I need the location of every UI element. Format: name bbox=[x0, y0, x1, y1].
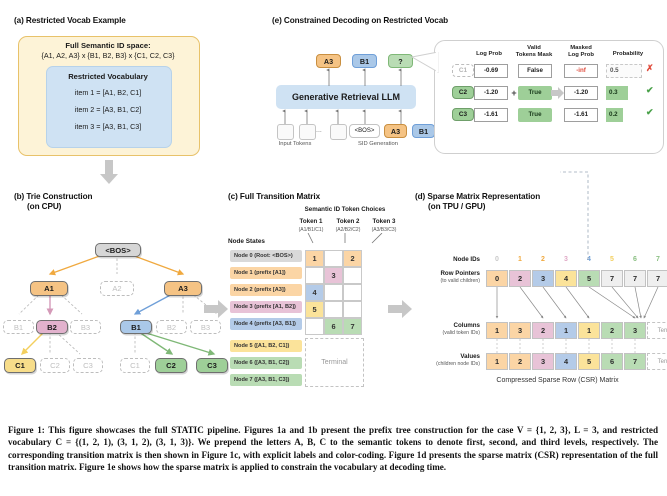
section-e-title: (e) Constrained Decoding on Restricted V… bbox=[272, 16, 448, 26]
section-c-title: (c) Full Transition Matrix bbox=[228, 192, 320, 202]
csr-column-5: 2 bbox=[601, 322, 623, 339]
sid-token-b1: B1 bbox=[412, 124, 435, 138]
node-state-7: Node 7 ([A3, B1, C3]) bbox=[230, 374, 302, 386]
trie-node-a3-b2: B2 bbox=[156, 320, 187, 334]
trie-node-a3-b1: B1 bbox=[120, 320, 152, 334]
full-semantic-id-value: {A1, A2, A3} x {B1, B2, B3} x {C1, C2, C… bbox=[14, 51, 202, 60]
row-pointer-0: 0 bbox=[486, 270, 508, 287]
matrix-cell-r1c1: 3 bbox=[324, 267, 343, 284]
csr-value-3: 4 bbox=[555, 353, 577, 370]
log-prob-c1: -0.69 bbox=[474, 64, 508, 78]
matrix-cell-r3c1 bbox=[324, 301, 343, 318]
probability-header: Probability bbox=[603, 51, 653, 58]
cross-icon-c1: ✗ bbox=[646, 63, 654, 74]
caption-text: This figure showcases the full STATIC pi… bbox=[8, 425, 658, 472]
trie-node-a3-b1-c3: C3 bbox=[196, 358, 228, 373]
matrix-cell-r4c0 bbox=[305, 318, 324, 335]
matrix-cell-r2c1 bbox=[324, 284, 343, 301]
valid-mask-header: Valid Tokens Mask bbox=[510, 45, 558, 59]
matrix-cell-r2c2 bbox=[343, 284, 362, 301]
matrix-terminal-block: Terminal bbox=[305, 338, 364, 387]
csr-column-6: 3 bbox=[624, 322, 646, 339]
input-arrows bbox=[276, 109, 416, 124]
columns-label: Columns(valid token IDs) bbox=[408, 322, 480, 338]
log-prob-header: Log Prob bbox=[468, 51, 510, 58]
arrow-mask-to-masked bbox=[551, 87, 564, 99]
node-ids-label: Node IDs bbox=[428, 256, 480, 263]
csr-column-4: 1 bbox=[578, 322, 600, 339]
node-state-3: Node 3 (prefix [A1, B2]) bbox=[230, 301, 302, 313]
matrix-cell-r0c0: 1 bbox=[305, 250, 324, 267]
trie-node-a2: A2 bbox=[100, 281, 134, 296]
trie-node-a1: A1 bbox=[30, 281, 68, 296]
csr-columns-terminal: Terminal bbox=[647, 322, 667, 339]
callout-tail bbox=[408, 52, 440, 78]
mask-c3: True bbox=[518, 108, 552, 122]
bos-token: <BOS> bbox=[349, 124, 380, 138]
generative-retrieval-llm: Generative Retrieval LLM bbox=[276, 85, 416, 109]
masked-log-prob-header: Masked Log Prob bbox=[558, 45, 604, 59]
csr-values-terminal: Terminal bbox=[647, 353, 667, 370]
row-pointer-7: 7 bbox=[647, 270, 667, 287]
figure-caption: Figure 1: This figure showcases the full… bbox=[8, 424, 658, 474]
matrix-cell-r4c2: 7 bbox=[343, 318, 362, 335]
csr-caption: Compressed Sparse Row (CSR) Matrix bbox=[455, 377, 660, 384]
node-state-2: Node 2 (prefix [A3]) bbox=[230, 284, 302, 296]
token-choices-header: Semantic ID Token Choices bbox=[290, 206, 400, 213]
input-token-box-3 bbox=[330, 124, 347, 140]
matrix-cell-r3c2 bbox=[343, 301, 362, 318]
values-label: Values(children node IDs) bbox=[400, 353, 480, 369]
restricted-vocabulary-title: Restricted Vocabulary bbox=[46, 72, 170, 81]
node-id-5: 5 bbox=[601, 256, 623, 263]
vocab-item-2: item 2 = [A3, B1, C2] bbox=[46, 105, 170, 114]
csr-value-4: 5 bbox=[578, 353, 600, 370]
sid-token-a3: A3 bbox=[384, 124, 407, 138]
matrix-cell-r1c0 bbox=[305, 267, 324, 284]
trie-node-bos: <BOS> bbox=[95, 243, 141, 257]
row-pointer-5: 7 bbox=[601, 270, 623, 287]
masked-log-prob-c1: -inf bbox=[564, 64, 598, 78]
csr-value-0: 1 bbox=[486, 353, 508, 370]
mask-c1: False bbox=[518, 64, 552, 78]
probability-c3: 0.2 bbox=[606, 108, 623, 122]
mask-c2: True bbox=[518, 86, 552, 100]
check-icon-c3: ✔ bbox=[646, 107, 654, 118]
trie-node-a1-b2-c2: C2 bbox=[40, 358, 70, 373]
decode-token-c3: C3 bbox=[452, 108, 474, 121]
figure-canvas: (a) Restricted Vocab Example Full Semant… bbox=[0, 0, 667, 400]
csr-pointer-arrows bbox=[486, 287, 667, 320]
node-state-0: Node 0 (Root: <BOS>) bbox=[230, 250, 302, 262]
csr-value-1: 2 bbox=[509, 353, 531, 370]
matrix-cell-r2c0: 4 bbox=[305, 284, 324, 301]
node-state-5: Node 5 ([A1, B2, C1]) bbox=[230, 340, 302, 352]
trie-node-a1-b2-c3: C3 bbox=[73, 358, 103, 373]
matrix-cell-r1c2 bbox=[343, 267, 362, 284]
node-state-6: Node 6 ([A3, B1, C2]) bbox=[230, 357, 302, 369]
trie-node-a1-b1: B1 bbox=[3, 320, 34, 334]
section-a-title: (a) Restricted Vocab Example bbox=[14, 16, 126, 26]
masked-log-prob-c2: -1.20 bbox=[564, 86, 598, 100]
token3-header: Token 3(A3/B3/C3) bbox=[362, 218, 406, 234]
matrix-cell-r0c2: 2 bbox=[343, 250, 362, 267]
arrow-b-to-c bbox=[204, 300, 228, 318]
row-pointers-label: Row Pointers(to valid children) bbox=[410, 270, 480, 286]
trie-node-a3-b1-c2: C2 bbox=[155, 358, 187, 373]
node-id-0: 0 bbox=[486, 256, 508, 263]
output-arrows bbox=[316, 68, 416, 86]
row-pointer-1: 2 bbox=[509, 270, 531, 287]
vocab-item-3: item 3 = [A3, B1, C3] bbox=[46, 122, 170, 131]
log-prob-c2: -1.20 bbox=[474, 86, 508, 100]
input-ellipsis: ... bbox=[316, 127, 322, 134]
log-prob-c3: -1.61 bbox=[474, 108, 508, 122]
node-id-7: 7 bbox=[647, 256, 667, 263]
trie-node-a1-b2-c1: C1 bbox=[4, 358, 36, 373]
mask-source-link bbox=[520, 150, 600, 260]
trie-node-a3-b1-c1: C1 bbox=[120, 358, 150, 373]
decode-token-c1: C1 bbox=[452, 64, 474, 77]
csr-col-val-links bbox=[486, 339, 646, 353]
trie-node-a3: A3 bbox=[164, 281, 202, 296]
csr-column-3: 1 bbox=[555, 322, 577, 339]
row-pointer-6: 7 bbox=[624, 270, 646, 287]
node-state-1: Node 1 (prefix [A1]) bbox=[230, 267, 302, 279]
csr-value-5: 6 bbox=[601, 353, 623, 370]
csr-value-2: 3 bbox=[532, 353, 554, 370]
matrix-cell-r0c1 bbox=[324, 250, 343, 267]
trie-node-a1-b3: B3 bbox=[70, 320, 101, 334]
caption-prefix: Figure 1: bbox=[8, 425, 45, 435]
decode-token-c2: C2 bbox=[452, 86, 474, 99]
row-pointer-3: 4 bbox=[555, 270, 577, 287]
probability-c1: 0.5 bbox=[606, 64, 642, 78]
masked-log-prob-c3: -1.61 bbox=[564, 108, 598, 122]
trie-node-a1-b2: B2 bbox=[36, 320, 68, 334]
input-token-box-2 bbox=[299, 124, 316, 140]
node-id-6: 6 bbox=[624, 256, 646, 263]
arrow-a-to-b bbox=[100, 160, 118, 184]
node-state-4: Node 4 (prefix [A3, B1]) bbox=[230, 318, 302, 330]
matrix-cell-r3c0: 5 bbox=[305, 301, 324, 318]
output-token-b1: B1 bbox=[352, 54, 377, 68]
row-pointer-4: 5 bbox=[578, 270, 600, 287]
csr-value-6: 7 bbox=[624, 353, 646, 370]
check-icon-c2: ✔ bbox=[646, 85, 654, 96]
input-tokens-caption: Input Tokens bbox=[265, 141, 325, 147]
trie-node-a3-b3: B3 bbox=[190, 320, 221, 334]
token-header-connectors bbox=[290, 233, 400, 250]
arrow-c-to-d bbox=[388, 300, 412, 318]
input-token-box-1 bbox=[277, 124, 294, 140]
node-states-header: Node States bbox=[228, 238, 265, 245]
sid-generation-caption: SID Generation bbox=[348, 141, 408, 147]
row-pointer-2: 3 bbox=[532, 270, 554, 287]
full-semantic-id-title: Full Semantic ID space: bbox=[18, 41, 198, 50]
section-b-title: (b) Trie Construction (on CPU) bbox=[14, 192, 92, 212]
matrix-cell-r4c1: 6 bbox=[324, 318, 343, 335]
csr-column-1: 3 bbox=[509, 322, 531, 339]
csr-column-0: 1 bbox=[486, 322, 508, 339]
csr-column-2: 2 bbox=[532, 322, 554, 339]
vocab-item-1: item 1 = [A1, B2, C1] bbox=[46, 88, 170, 97]
output-token-a3: A3 bbox=[316, 54, 341, 68]
probability-c2: 0.3 bbox=[606, 86, 628, 100]
